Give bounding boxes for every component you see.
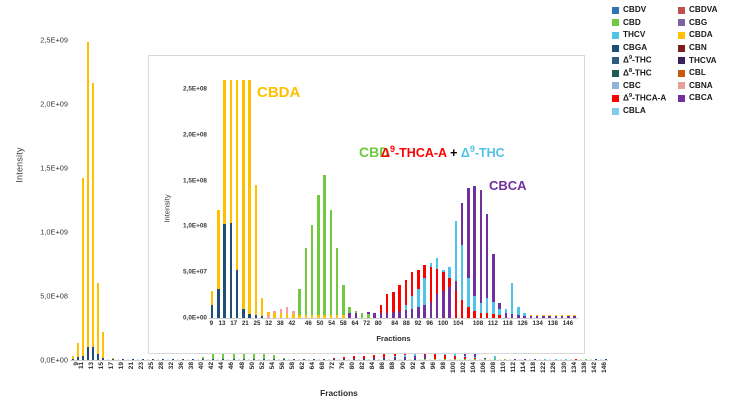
main-bar xyxy=(595,359,597,360)
main-bar xyxy=(333,359,335,360)
main-bar xyxy=(605,359,607,360)
inset-bar xyxy=(455,291,457,318)
inset-x-tick xyxy=(573,320,578,332)
inset-x-tick: 72 xyxy=(363,320,370,332)
main-bar xyxy=(288,359,290,360)
main-bar xyxy=(509,359,511,360)
legend-label: CBNA xyxy=(689,82,713,90)
main-y-tick: 2,5E+09 xyxy=(40,35,68,44)
legend-item[interactable]: CBLA xyxy=(612,105,678,118)
main-bar xyxy=(399,359,401,360)
main-bar xyxy=(87,42,89,360)
main-bar xyxy=(102,332,104,360)
legend-item[interactable]: CBDA xyxy=(678,29,749,42)
inset-bar xyxy=(280,313,282,318)
main-bar xyxy=(388,359,390,360)
legend-item[interactable]: Δ9-THC xyxy=(612,54,678,67)
inset-bar xyxy=(542,316,544,318)
main-bar xyxy=(449,359,451,360)
main-bar xyxy=(560,359,562,360)
inset-bar xyxy=(523,316,525,318)
inset-bar xyxy=(230,223,232,318)
main-bar xyxy=(293,359,295,360)
main-bar xyxy=(303,359,305,360)
legend-item[interactable]: CBNA xyxy=(678,80,749,93)
inset-bar xyxy=(342,315,344,318)
inset-x-tick: 104 xyxy=(453,320,463,332)
inset-bar xyxy=(442,291,444,318)
main-bar xyxy=(474,359,476,360)
main-bar xyxy=(162,359,164,360)
inset-bar xyxy=(405,310,407,318)
inset-x-tick: 96 xyxy=(426,320,433,332)
main-bar xyxy=(353,359,355,360)
main-bar xyxy=(132,359,134,360)
legend-label: CBCA xyxy=(689,94,713,102)
main-bar xyxy=(92,347,94,360)
main-bar xyxy=(233,359,235,360)
inset-bar xyxy=(317,195,319,318)
inset-x-tick: 92 xyxy=(415,320,422,332)
legend-swatch-icon xyxy=(678,19,685,26)
legend-label: CBD xyxy=(623,19,641,27)
main-bar xyxy=(147,359,149,360)
main-bar xyxy=(484,359,486,360)
inset-x-tick: 25 xyxy=(254,320,261,332)
legend-item[interactable]: CBG xyxy=(678,17,749,30)
main-bar xyxy=(394,359,396,360)
inset-y-tick: 2,5E+08 xyxy=(183,85,207,92)
main-bar xyxy=(243,359,245,360)
main-bar xyxy=(479,359,481,360)
inset-bar xyxy=(223,224,225,318)
inset-bar xyxy=(336,248,338,318)
main-bar xyxy=(258,359,260,360)
main-bar xyxy=(177,359,179,360)
main-bar xyxy=(117,359,119,360)
legend-item[interactable]: CBL xyxy=(678,67,749,80)
main-bar xyxy=(383,359,385,360)
main-bar xyxy=(222,359,224,360)
main-bar xyxy=(544,359,546,360)
inset-bar xyxy=(430,302,432,318)
inset-bar xyxy=(561,316,563,318)
main-x-axis-label: Fractions xyxy=(70,388,608,398)
main-bar xyxy=(82,178,84,360)
annotation-cbda: CBDA xyxy=(257,84,300,101)
legend-label: Δ8-THC xyxy=(623,69,652,78)
legend: CBDVCBDTHCVCBGAΔ9-THCΔ8-THCCBCΔ9-THCA-AC… xyxy=(612,4,749,122)
main-bar xyxy=(575,359,577,360)
main-bar xyxy=(283,359,285,360)
inset-bar xyxy=(323,315,325,318)
inset-bar xyxy=(461,300,463,318)
main-bar xyxy=(217,359,219,360)
inset-y-tick: 0,0E+00 xyxy=(183,315,207,322)
main-bar xyxy=(489,359,491,360)
legend-item[interactable]: CBC xyxy=(612,80,678,93)
legend-swatch-icon xyxy=(678,70,685,77)
main-bar xyxy=(263,359,265,360)
inset-y-tick: 1,5E+08 xyxy=(183,177,207,184)
inset-bar xyxy=(505,313,507,318)
main-bar xyxy=(414,359,416,360)
main-bar xyxy=(514,359,516,360)
inset-x-tick: 100 xyxy=(438,320,448,332)
inset-bar xyxy=(567,316,569,318)
main-y-axis-ticks: 0,0E+005,0E+081,0E+091,5E+092,0E+092,5E+… xyxy=(20,14,68,360)
legend-item[interactable]: CBN xyxy=(678,42,749,55)
inset-x-tick: 112 xyxy=(488,320,498,332)
legend-item[interactable]: CBDV xyxy=(612,4,678,17)
main-bar xyxy=(494,359,496,360)
inset-y-tick: 2,0E+08 xyxy=(183,131,207,138)
main-bar xyxy=(157,359,159,360)
main-y-tick: 0,0E+00 xyxy=(40,356,68,365)
inset-bar xyxy=(261,316,263,318)
main-bar xyxy=(313,359,315,360)
legend-item[interactable]: Δ8-THC xyxy=(612,67,678,80)
main-bar xyxy=(308,359,310,360)
inset-x-tick: 42 xyxy=(288,320,295,332)
main-bar xyxy=(363,359,365,360)
annotation-thca-thc: Δ9-THCA-A + Δ9-THC xyxy=(381,144,505,160)
main-bar xyxy=(92,83,94,360)
main-bar xyxy=(368,359,370,360)
main-bar xyxy=(167,359,169,360)
main-bar xyxy=(404,359,406,360)
main-bar xyxy=(580,359,582,360)
main-bar xyxy=(524,359,526,360)
main-bar xyxy=(122,359,124,360)
main-bar xyxy=(97,283,99,360)
main-bar xyxy=(212,359,214,360)
main-bar xyxy=(318,359,320,360)
inset-bar xyxy=(242,309,244,318)
main-bar xyxy=(97,354,99,360)
inset-x-tick: 146 xyxy=(563,320,573,332)
main-bar xyxy=(378,359,380,360)
legend-swatch-icon xyxy=(612,32,619,39)
inset-x-tick: 108 xyxy=(473,320,483,332)
main-bar xyxy=(248,359,250,360)
inset-bar xyxy=(480,190,482,318)
inset-bar xyxy=(217,289,219,318)
inset-bar xyxy=(392,312,394,318)
inset-x-tick: 126 xyxy=(517,320,527,332)
inset-x-tick: 50 xyxy=(317,320,324,332)
inset-bar xyxy=(555,316,557,318)
main-bar xyxy=(419,359,421,360)
main-bar xyxy=(77,357,79,360)
main-bar xyxy=(429,359,431,360)
main-bar xyxy=(555,359,557,360)
inset-bar xyxy=(436,294,438,318)
main-bar xyxy=(268,359,270,360)
main-bar xyxy=(373,359,375,360)
inset-bar xyxy=(548,316,550,318)
inset-x-tick: 21 xyxy=(242,320,249,332)
main-y-tick: 1,5E+09 xyxy=(40,163,68,172)
inset-bar xyxy=(255,315,257,318)
inset-bar xyxy=(386,313,388,318)
main-bar xyxy=(172,359,174,360)
inset-bar xyxy=(355,313,357,318)
main-bar xyxy=(348,359,350,360)
inset-bar xyxy=(242,80,244,318)
inset-x-tick: 32 xyxy=(265,320,272,332)
main-bar xyxy=(278,359,280,360)
legend-item[interactable]: CBCA xyxy=(678,92,749,105)
main-bar xyxy=(323,359,325,360)
inset-x-tick: 88 xyxy=(403,320,410,332)
inset-bar xyxy=(536,316,538,318)
inset-x-tick: 138 xyxy=(548,320,558,332)
inset-bar xyxy=(517,315,519,318)
inset-x-tick: 46 xyxy=(305,320,312,332)
inset-x-axis-label: Fractions xyxy=(209,334,578,343)
legend-label: THCV xyxy=(623,31,645,39)
inset-bar xyxy=(348,313,350,318)
main-bar xyxy=(409,359,411,360)
inset-bar xyxy=(248,80,250,318)
main-bar xyxy=(585,359,587,360)
inset-bar xyxy=(286,314,288,318)
main-bar xyxy=(600,359,602,360)
inset-bar xyxy=(417,307,419,318)
inset-bar xyxy=(423,305,425,318)
legend-swatch-icon xyxy=(612,70,619,77)
legend-label: CBDA xyxy=(689,31,713,39)
inset-x-axis-ticks: 9131721253238424650545864728084889296100… xyxy=(209,320,578,332)
legend-item[interactable]: CBDVA xyxy=(678,4,749,17)
legend-swatch-icon xyxy=(612,108,619,115)
inset-bar xyxy=(380,313,382,318)
main-bar xyxy=(590,359,592,360)
inset-bar xyxy=(248,314,250,318)
legend-item[interactable]: THCVA xyxy=(678,54,749,67)
main-bar xyxy=(227,359,229,360)
inset-bar-group xyxy=(572,66,578,318)
inset-bar xyxy=(411,309,413,318)
inset-bar xyxy=(311,225,313,318)
inset-x-tick: 58 xyxy=(340,320,347,332)
inset-bar xyxy=(373,313,375,318)
inset-x-tick: 134 xyxy=(533,320,543,332)
inset-bar xyxy=(342,285,344,318)
main-bar xyxy=(424,359,426,360)
inset-x-tick: 17 xyxy=(230,320,237,332)
inset-x-tick: 84 xyxy=(391,320,398,332)
main-bar-group xyxy=(603,14,608,360)
legend-label: CBC xyxy=(623,82,641,90)
inset-bar xyxy=(486,313,488,318)
inset-bar xyxy=(311,315,313,318)
inset-bar xyxy=(473,311,475,318)
main-bar xyxy=(338,359,340,360)
inset-bar xyxy=(211,305,213,318)
inset-bar xyxy=(305,315,307,318)
legend-swatch-icon xyxy=(612,57,619,64)
main-bar xyxy=(187,359,189,360)
main-bar xyxy=(454,359,456,360)
legend-swatch-icon xyxy=(678,32,685,39)
main-bar xyxy=(434,359,436,360)
inset-bar xyxy=(511,283,513,318)
inset-bar xyxy=(298,289,300,318)
inset-bar xyxy=(255,185,257,318)
legend-label: CBDV xyxy=(623,6,646,14)
main-bar xyxy=(238,359,240,360)
main-bar xyxy=(87,347,89,360)
main-x-axis-ticks: 9111315171921232528323638404244464850525… xyxy=(70,361,608,391)
main-bar xyxy=(107,359,109,360)
legend-label: CBL xyxy=(689,69,706,77)
inset-bar xyxy=(367,314,369,318)
main-y-tick: 5,0E+08 xyxy=(40,291,68,300)
legend-item[interactable]: THCV xyxy=(612,29,678,42)
main-bar xyxy=(202,359,204,360)
inset-bar xyxy=(361,313,363,318)
main-bar xyxy=(112,359,114,360)
main-bar xyxy=(504,359,506,360)
legend-column-1: CBDVCBDTHCVCBGAΔ9-THCΔ8-THCCBCΔ9-THCA-AC… xyxy=(612,4,678,122)
main-bar xyxy=(499,359,501,360)
main-bar xyxy=(343,359,345,360)
legend-swatch-icon xyxy=(612,45,619,52)
inset-x-tick: 118 xyxy=(503,320,513,332)
legend-swatch-icon xyxy=(678,7,685,14)
main-bar xyxy=(298,359,300,360)
inset-bar xyxy=(467,307,469,318)
legend-label: Δ9-THCA-A xyxy=(623,94,666,103)
inset-bar xyxy=(498,315,500,318)
legend-label: CBGA xyxy=(623,44,647,52)
inset-bar xyxy=(330,210,332,318)
legend-swatch-icon xyxy=(612,7,619,14)
legend-swatch-icon xyxy=(678,57,685,64)
main-bar xyxy=(439,359,441,360)
legend-swatch-icon xyxy=(612,82,619,89)
inset-bar xyxy=(267,315,269,318)
main-bar xyxy=(328,359,330,360)
main-bar xyxy=(464,359,466,360)
main-bar xyxy=(72,359,74,360)
inset-bar xyxy=(330,315,332,318)
main-bar xyxy=(549,359,551,360)
main-x-tick xyxy=(603,361,608,391)
legend-label: Δ9-THC xyxy=(623,56,652,65)
legend-label: CBN xyxy=(689,44,707,52)
legend-swatch-icon xyxy=(612,19,619,26)
main-bar xyxy=(358,359,360,360)
main-bar xyxy=(539,359,541,360)
inset-bar xyxy=(398,311,400,318)
main-bar xyxy=(137,359,139,360)
inset-bar xyxy=(323,175,325,318)
inset-x-tick: 13 xyxy=(219,320,226,332)
inset-bar xyxy=(292,314,294,318)
inset-bar xyxy=(573,316,575,318)
legend-column-2: CBDVACBGCBDACBNTHCVACBLCBNACBCA xyxy=(678,4,749,122)
inset-y-axis-ticks: 0,0E+005,0E+071,0E+081,5E+082,0E+082,5E+… xyxy=(163,66,207,318)
main-bar xyxy=(519,359,521,360)
legend-swatch-icon xyxy=(678,45,685,52)
legend-label: CBDVA xyxy=(689,6,718,14)
inset-bar xyxy=(480,313,482,318)
legend-swatch-icon xyxy=(678,82,685,89)
inset-bar xyxy=(236,270,238,318)
main-bar xyxy=(570,359,572,360)
legend-label: CBLA xyxy=(623,107,646,115)
main-y-tick: 2,0E+09 xyxy=(40,99,68,108)
inset-bar xyxy=(336,315,338,318)
main-bar xyxy=(273,359,275,360)
inset-x-tick: 54 xyxy=(328,320,335,332)
inset-bar xyxy=(448,287,450,318)
main-y-tick: 1,0E+09 xyxy=(40,227,68,236)
main-bar xyxy=(253,359,255,360)
main-bar xyxy=(152,359,154,360)
legend-label: THCVA xyxy=(689,57,717,65)
main-bar xyxy=(192,359,194,360)
main-bar xyxy=(197,359,199,360)
main-bar xyxy=(182,359,184,360)
main-bar xyxy=(534,359,536,360)
inset-bar xyxy=(261,298,263,318)
main-bar xyxy=(459,359,461,360)
main-bar xyxy=(565,359,567,360)
main-bar xyxy=(207,359,209,360)
inset-chart: Intensity 0,0E+005,0E+071,0E+081,5E+082,… xyxy=(148,55,585,354)
inset-x-tick: 80 xyxy=(375,320,382,332)
inset-x-tick: 38 xyxy=(277,320,284,332)
main-bar xyxy=(102,358,104,360)
inset-bar xyxy=(305,248,307,318)
legend-item[interactable]: CBGA xyxy=(612,42,678,55)
annotation-cbca: CBCA xyxy=(489,178,527,193)
inset-bar xyxy=(511,314,513,318)
legend-swatch-icon xyxy=(678,95,685,102)
main-bar xyxy=(127,359,129,360)
legend-item[interactable]: CBD xyxy=(612,17,678,30)
legend-label: CBG xyxy=(689,19,707,27)
main-bar xyxy=(82,356,84,360)
inset-y-tick: 5,0E+07 xyxy=(183,269,207,276)
inset-bar xyxy=(298,315,300,318)
main-bar xyxy=(529,359,531,360)
inset-y-tick: 1,0E+08 xyxy=(183,223,207,230)
main-bar xyxy=(469,359,471,360)
inset-bar xyxy=(273,313,275,318)
inset-bar xyxy=(317,315,319,318)
legend-swatch-icon xyxy=(612,95,619,102)
inset-bar xyxy=(492,314,494,318)
main-bar xyxy=(444,359,446,360)
legend-item[interactable]: Δ9-THCA-A xyxy=(612,92,678,105)
inset-bar xyxy=(530,316,532,318)
main-bar xyxy=(142,359,144,360)
inset-x-tick: 64 xyxy=(352,320,359,332)
